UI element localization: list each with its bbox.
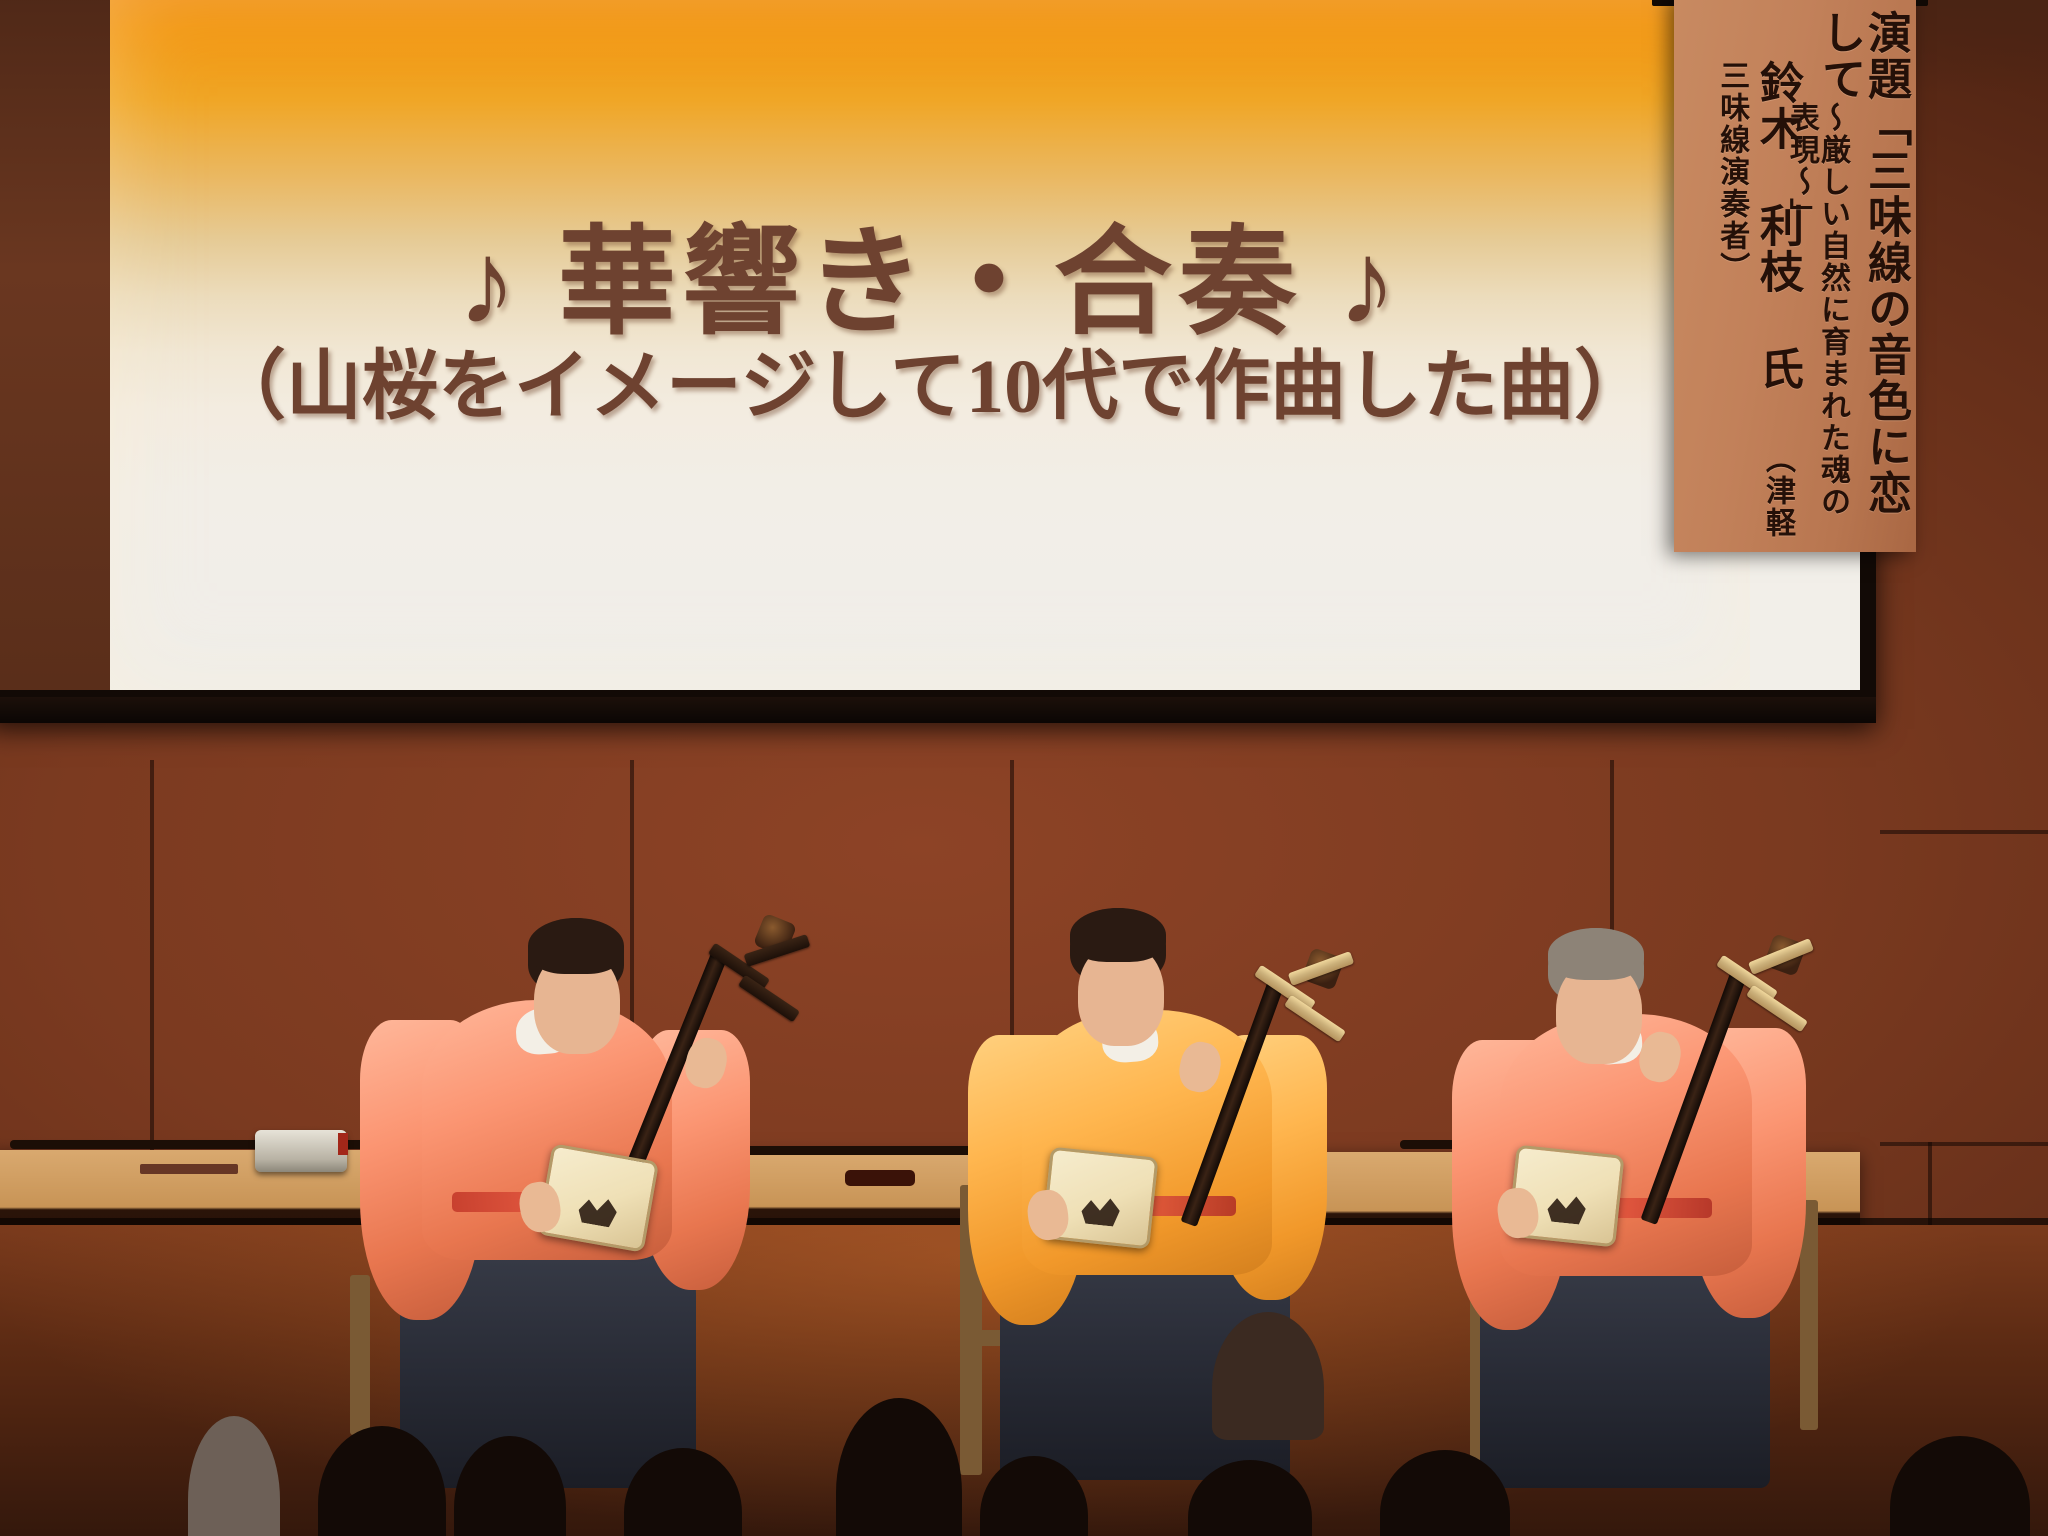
lecture-title-banner: 演題「三味線の音色に恋して ～厳しい自然に育まれた魂の表現～」 鈴木 利枝 氏 … [1674,0,1916,552]
banner-column-title: 演題「三味線の音色に恋して [1850,6,1908,542]
photo-scene: ♪ 華響き・合奏 ♪ （山桜をイメージして10代で作曲した曲） 演題「三味線の音… [0,0,2048,1536]
projection-screen: ♪ 華響き・合奏 ♪ （山桜をイメージして10代で作曲した曲） [0,0,1860,690]
banner-speaker-honorific: 氏 [1753,346,1802,392]
projection-screen-frame: ♪ 華響き・合奏 ♪ （山桜をイメージして10代で作曲した曲） [0,0,1876,723]
shamisen-body-motif-right [1546,1191,1587,1225]
banner-column-speaker: 鈴木 利枝 氏 （津軽三味線演奏者） [1736,6,1800,542]
chair-left-back [350,1275,370,1435]
silver-case-prop [255,1130,347,1172]
slide-subtitle: （山桜をイメージして10代で作曲した曲） [110,324,1750,434]
shamisen-body-motif-left [577,1192,620,1228]
paper-sheet-prop [140,1164,238,1174]
screen-left-shadow-band [0,0,110,690]
wall-seam-horizontal-lower [1880,1142,2048,1146]
shamisen-body-motif-center [1080,1193,1121,1227]
red-marker-tab-prop [338,1133,348,1155]
wall-seam-vertical-far-left [150,760,154,1160]
presentation-slide: ♪ 華響き・合奏 ♪ （山桜をイメージして10代で作曲した曲） [110,0,1750,690]
hair-fringe-center-performer [1070,908,1166,962]
hair-fringe-right-performer [1548,928,1644,980]
banner-lecture-label: 演題 [1861,10,1910,102]
dark-object-prop [845,1170,915,1186]
wall-seam-horizontal-upper [1880,830,2048,834]
hair-fringe-left-performer [528,918,624,974]
